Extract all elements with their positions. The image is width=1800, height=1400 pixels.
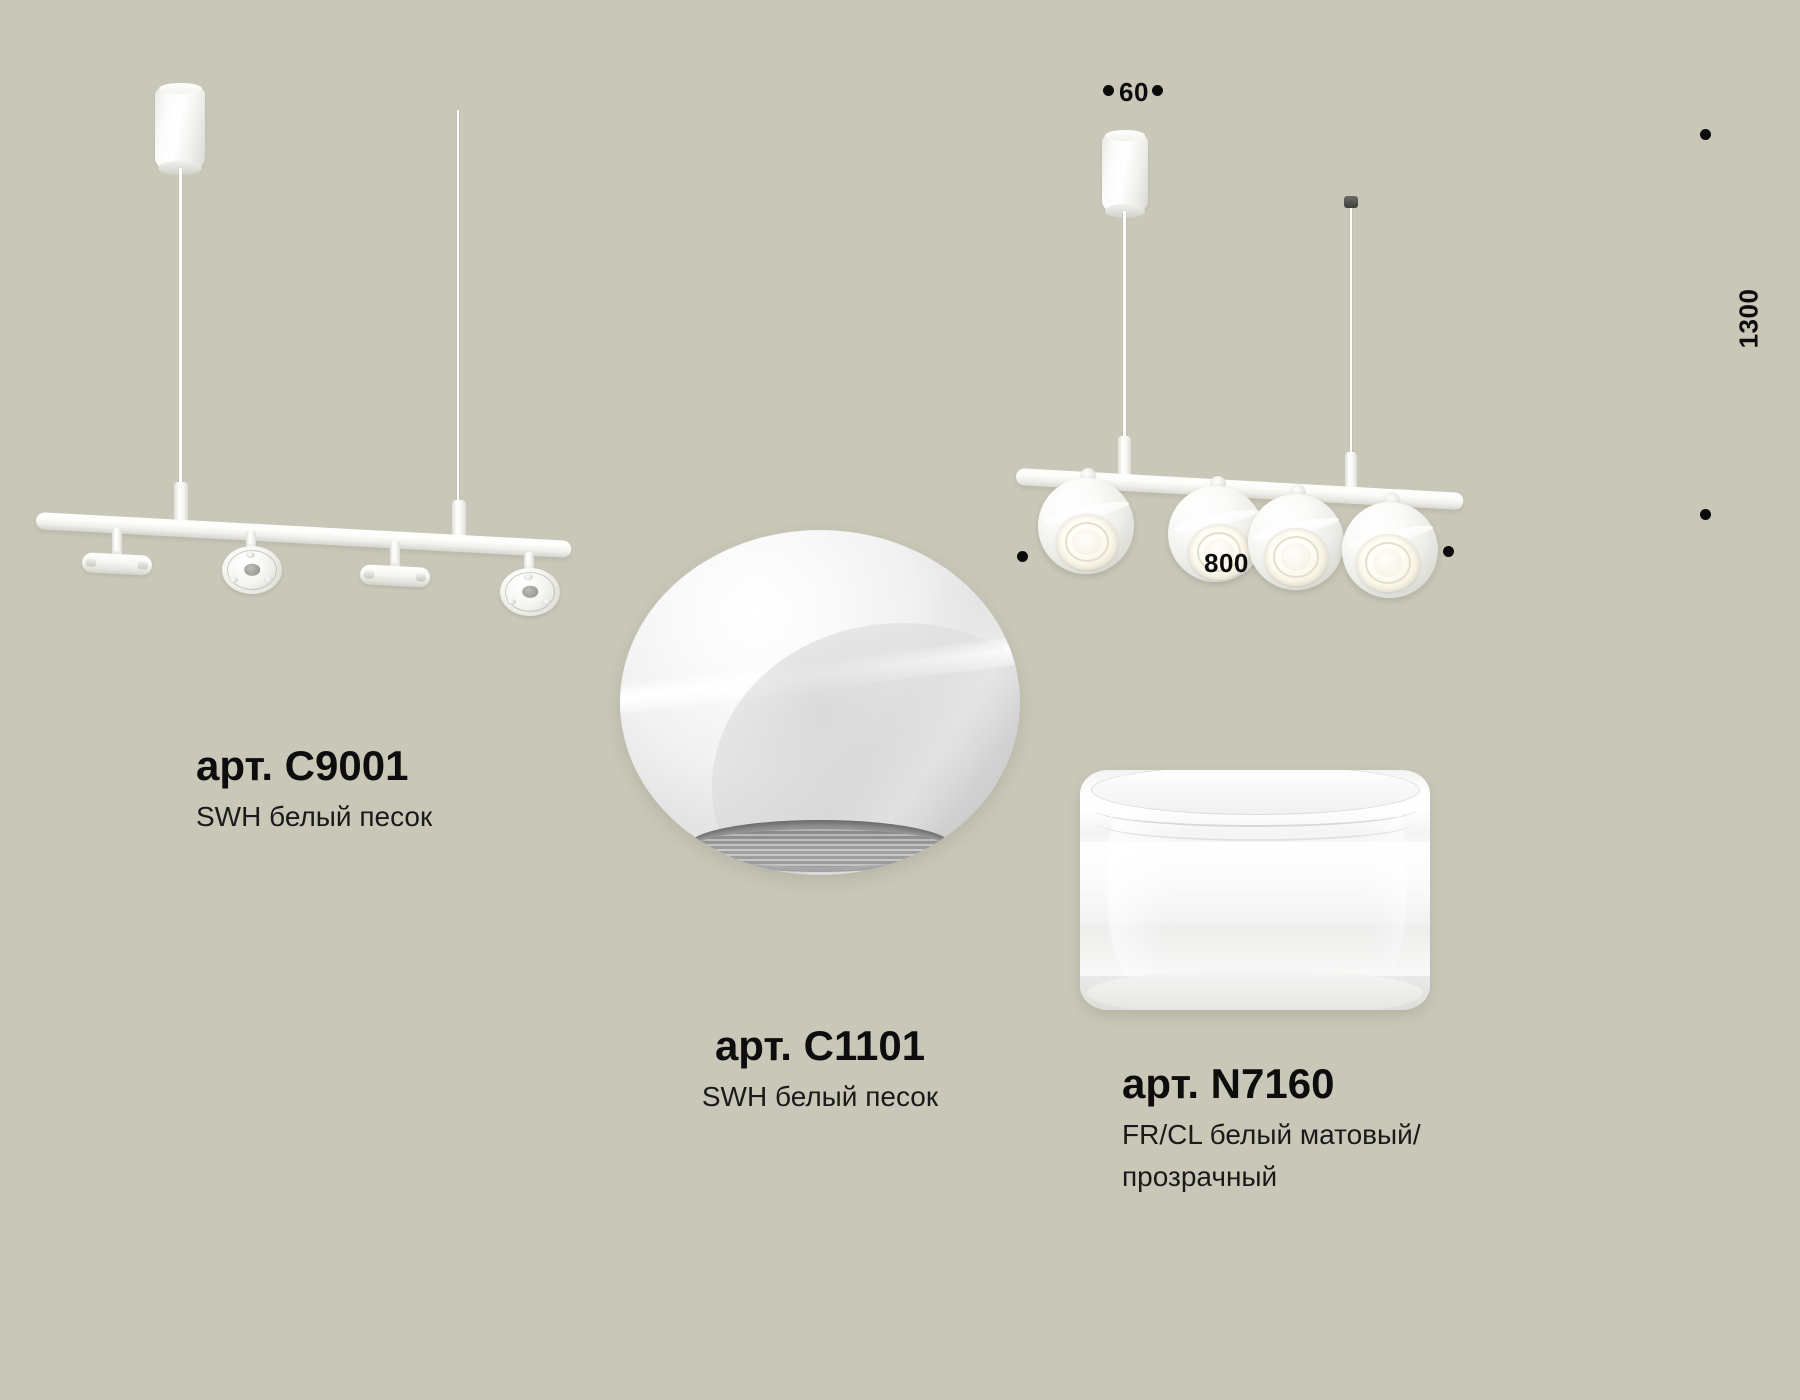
- suspension-cable: [179, 168, 182, 488]
- dim-dot-height-bottom: [1700, 509, 1711, 520]
- dim-label-800: 800: [1204, 548, 1249, 579]
- dim-dot-800-left: [1017, 551, 1028, 562]
- article-code-c9001: арт. C9001: [196, 742, 432, 790]
- product-image-c1101: [620, 530, 1020, 875]
- product-image-assembly: [980, 40, 1780, 640]
- stem-assembly-right: [1345, 452, 1357, 490]
- stem-assembly-left: [1118, 436, 1131, 478]
- product-image-n7160: [1080, 770, 1430, 1010]
- suspension-cable-3: [1350, 204, 1352, 466]
- caption-c9001: арт. C9001 SWH белый песок: [196, 742, 432, 836]
- dim-dot-height-top: [1700, 129, 1711, 140]
- finish-n7160-line2: прозрачный: [1122, 1158, 1421, 1196]
- dim-dot-60-right: [1152, 85, 1163, 96]
- dim-label-60: 60: [1119, 77, 1149, 108]
- assembly-spot-4: [1342, 502, 1438, 598]
- ceiling-canopy-icon: [155, 88, 205, 168]
- caption-c1101: арт. C1101 SWH белый песок: [600, 1022, 1040, 1116]
- suspension-cable-secondary: [457, 110, 459, 500]
- article-code-c1101: арт. C1101: [600, 1022, 1040, 1070]
- cable-clip-icon: [1344, 196, 1358, 208]
- finish-c1101: SWH белый песок: [600, 1078, 1040, 1116]
- suspension-cable-2: [1123, 211, 1126, 443]
- dim-dot-800-right: [1443, 546, 1454, 557]
- finish-c9001: SWH белый песок: [196, 798, 432, 836]
- product-sheet: арт. C9001 SWH белый песок арт. C1101 SW…: [0, 0, 1800, 1400]
- ceiling-canopy-icon-2: [1102, 135, 1148, 211]
- caption-n7160: арт. N7160 FR/CL белый матовый/ прозрачн…: [1122, 1060, 1421, 1196]
- assembly-spot-1: [1038, 478, 1134, 574]
- assembly-spot-3: [1248, 494, 1344, 590]
- article-code-n7160: арт. N7160: [1122, 1060, 1421, 1108]
- product-image-c9001: [0, 0, 640, 640]
- finish-n7160-line1: FR/CL белый матовый/: [1122, 1116, 1421, 1154]
- dim-dot-60-left: [1103, 85, 1114, 96]
- dim-label-1300: 1300: [1734, 284, 1765, 354]
